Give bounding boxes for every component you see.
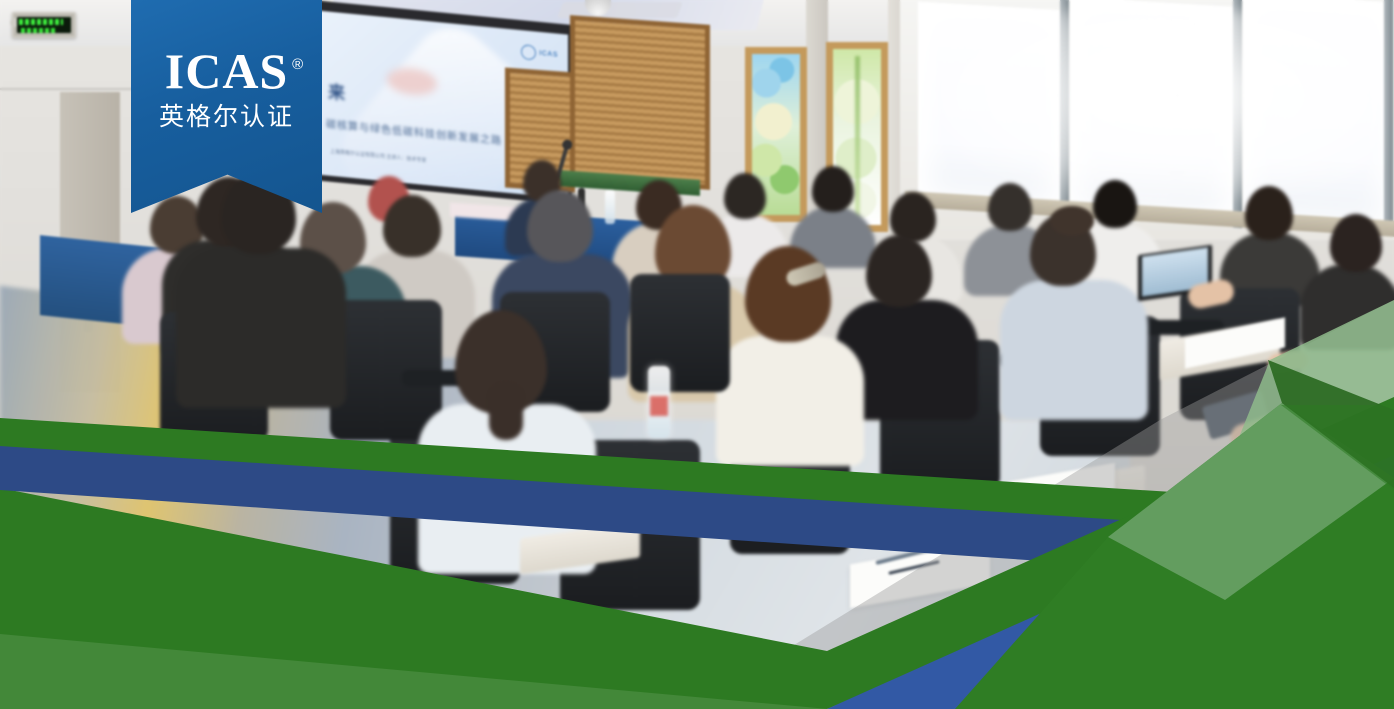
icas-wordmark: ICAS ® xyxy=(165,46,288,96)
icas-wordmark-text: ICAS xyxy=(165,43,288,99)
registered-trademark-icon: ® xyxy=(292,40,304,90)
banner-image: ICAS 来 碳核算与绿色低碳科技创新发展之路 上海英格尔认证有限公司 主讲人：… xyxy=(0,0,1394,709)
icas-chinese-name: 英格尔认证 xyxy=(159,102,294,132)
